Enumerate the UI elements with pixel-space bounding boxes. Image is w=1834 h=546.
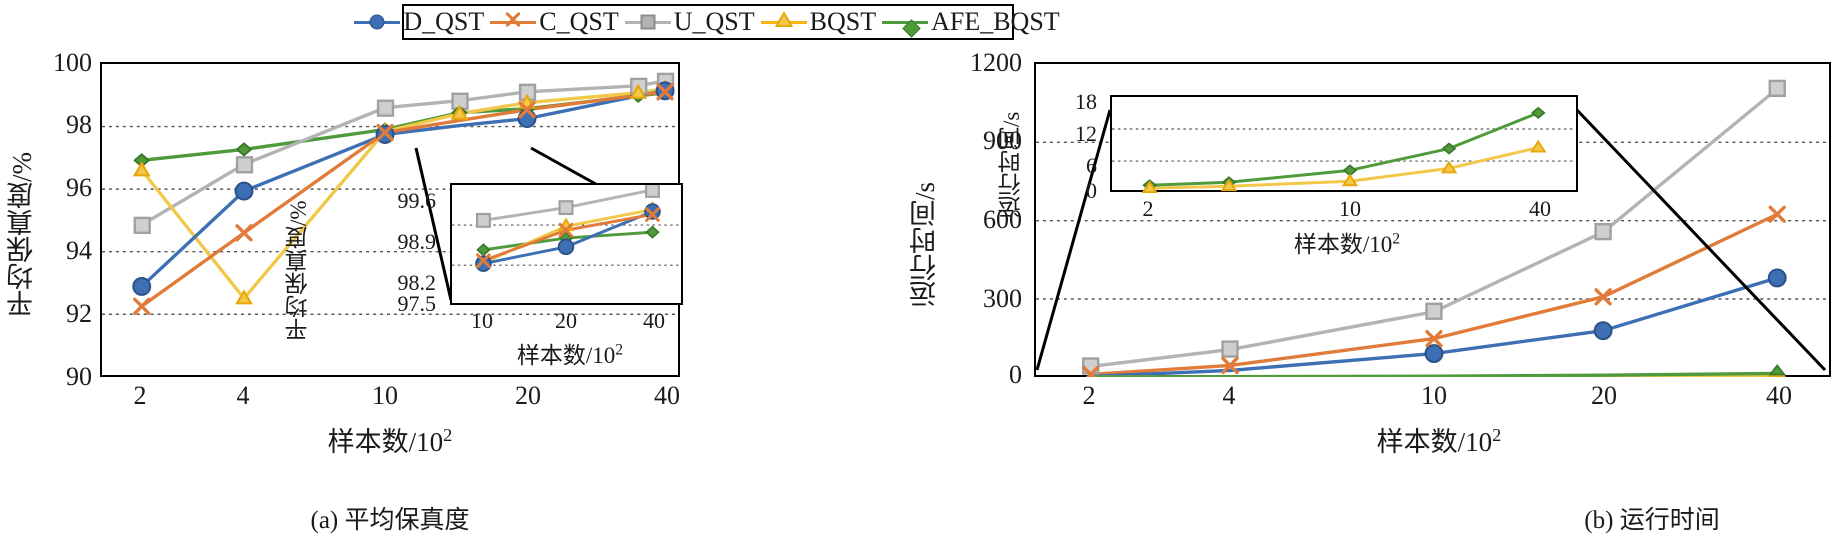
panel-a-ytick-92: 92 bbox=[22, 299, 92, 329]
panel-a-inset-xlabel: 样本数/102 bbox=[470, 336, 670, 370]
panel-a-inset-ylabel: 平均保真度/% bbox=[282, 196, 316, 346]
panel-b-inset-xlabel-sup: 2 bbox=[1392, 230, 1400, 247]
panel-a-xtick-4: 4 bbox=[213, 381, 273, 411]
panel-a-ytick-96: 96 bbox=[22, 173, 92, 203]
panel-a-xtick-20: 20 bbox=[498, 381, 558, 411]
panel-b-inset-ytick-12: 12 bbox=[1027, 121, 1097, 147]
panel-b-ytick-0: 0 bbox=[917, 360, 1022, 390]
panel-b-inset-ytick-18: 18 bbox=[1027, 89, 1097, 115]
panel-b-ytick-300: 300 bbox=[917, 284, 1022, 314]
panel-b-xtick-2: 2 bbox=[1059, 381, 1119, 411]
panel-fidelity: 平均保真度/% 100 98 96 94 92 90 bbox=[0, 0, 917, 546]
panel-a-ytick-94: 94 bbox=[22, 236, 92, 266]
panel-b-xtick-10: 10 bbox=[1404, 381, 1464, 411]
panel-b-xtick-40: 40 bbox=[1749, 381, 1809, 411]
panel-b-caption: (b) 运行时间 bbox=[1542, 500, 1762, 536]
panel-a-ytick-90: 90 bbox=[22, 362, 92, 392]
panel-b-xlabel-sup: 2 bbox=[1492, 425, 1501, 445]
panel-a-xtick-2: 2 bbox=[110, 381, 170, 411]
panel-a-xlabel-sup: 2 bbox=[443, 425, 452, 445]
panel-b-inset-xlabel: 样本数/102 bbox=[1237, 225, 1457, 259]
panel-b-inset-ytick-6: 6 bbox=[1027, 153, 1097, 179]
panel-a-xlabel: 样本数/102 bbox=[290, 420, 490, 459]
panel-a-inset-xtick-10: 10 bbox=[462, 308, 502, 334]
panel-a-caption: (a) 平均保真度 bbox=[280, 500, 500, 536]
panel-a-inset-ytick-99.6: 99.6 bbox=[316, 188, 436, 214]
panel-b-inset-xtick-40: 40 bbox=[1520, 196, 1560, 222]
panel-b-xtick-20: 20 bbox=[1574, 381, 1634, 411]
panel-b-inset-xtick-2: 2 bbox=[1128, 196, 1168, 222]
panel-a-inset-ytick-97.5: 97.5 bbox=[316, 291, 436, 317]
panel-b-inset-xlabel-text: 样本数/10 bbox=[1294, 232, 1392, 257]
panel-b-inset bbox=[1110, 95, 1578, 192]
panel-a-xtick-10: 10 bbox=[355, 381, 415, 411]
panel-a-inset bbox=[450, 183, 683, 305]
panel-b-xtick-4: 4 bbox=[1199, 381, 1259, 411]
panel-a-inset-xtick-40: 40 bbox=[634, 308, 674, 334]
panel-b-ytick-1200: 1200 bbox=[917, 48, 1022, 78]
panel-b-xlabel: 样本数/102 bbox=[1329, 420, 1549, 459]
panel-b-inset-ylabel: 运行时间/s bbox=[995, 100, 1029, 230]
figure-root: D_QST C_QST U_QST BQST bbox=[0, 0, 1834, 546]
panel-a-xlabel-text: 样本数/10 bbox=[328, 427, 444, 457]
panel-b-inset-xtick-10: 10 bbox=[1330, 196, 1370, 222]
panel-a-ytick-98: 98 bbox=[22, 110, 92, 140]
panel-b-inset-svg bbox=[1112, 97, 1576, 193]
panel-a-ytick-100: 100 bbox=[22, 48, 92, 78]
panel-a-xtick-40: 40 bbox=[637, 381, 697, 411]
panel-a-inset-xlabel-sup: 2 bbox=[615, 341, 623, 358]
panel-runtime: 运行时间/s 1200 900 600 300 0 bbox=[917, 0, 1834, 546]
panel-a-inset-ytick-98.9: 98.9 bbox=[316, 229, 436, 255]
panel-b-xlabel-text: 样本数/10 bbox=[1377, 427, 1493, 457]
panel-b-inset-ytick-0: 0 bbox=[1027, 178, 1097, 204]
panel-a-inset-xlabel-text: 样本数/10 bbox=[517, 343, 615, 368]
panel-a-inset-xtick-20: 20 bbox=[546, 308, 586, 334]
panel-a-inset-svg bbox=[452, 185, 681, 305]
